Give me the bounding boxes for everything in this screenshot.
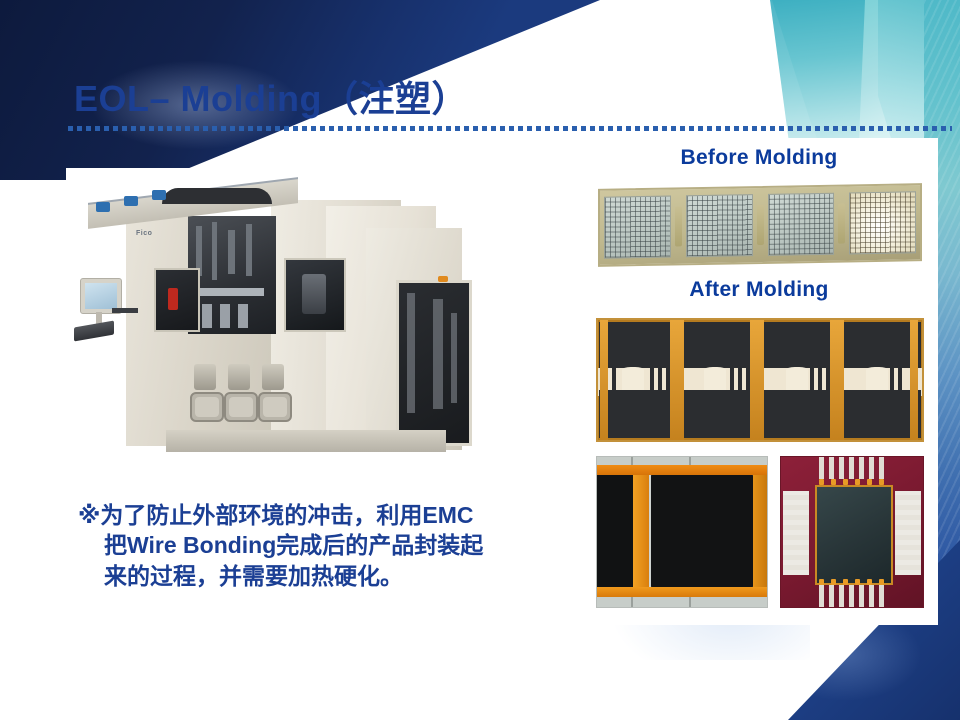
right-image-panel: Before Molding After Molding: [580, 138, 938, 625]
machine-indicator-lamp: [438, 276, 448, 282]
caption-line-2: 把Wire Bonding完成后的产品封装起: [78, 530, 558, 560]
title-divider: [68, 126, 952, 131]
page-title: EOL– Molding（注塑）: [74, 70, 468, 122]
body-caption: ※为了防止外部环境的冲击，利用EMC 把Wire Bonding完成后的产品封装…: [78, 500, 558, 591]
before-molding-heading: Before Molding: [580, 146, 938, 170]
caption-line-3: 来的过程，并需要加热硬化。: [78, 561, 558, 591]
molding-machine-photo: Fico: [66, 168, 476, 468]
machine-clip-icon: [124, 196, 138, 206]
after-molding-heading: After Molding: [580, 278, 938, 302]
molded-leadframe-photo: [596, 318, 924, 442]
caption-line-1: ※为了防止外部环境的冲击，利用EMC: [78, 502, 473, 528]
slide-canvas: EOL– Molding（注塑）: [0, 0, 960, 720]
machine-clip-icon: [96, 202, 110, 212]
molded-compound-closeup-photo: [596, 456, 768, 608]
machine-keyboard: [74, 320, 114, 341]
machine-clip-icon: [152, 190, 166, 200]
machine-internal-bay: [188, 216, 276, 334]
qfp-package-closeup-photo: [780, 456, 924, 608]
machine-glass-door: [396, 280, 472, 446]
bare-leadframe-photo: [598, 183, 922, 267]
